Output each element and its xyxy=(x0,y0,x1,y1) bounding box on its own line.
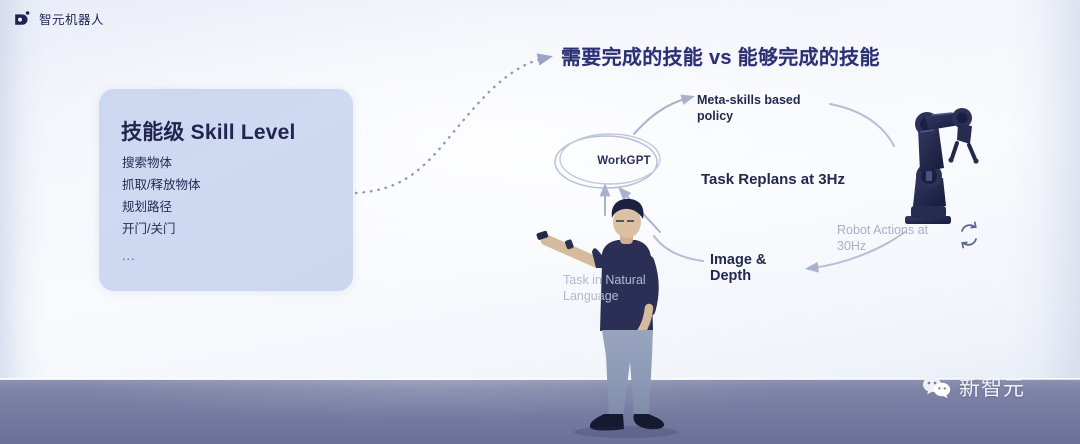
wechat-icon xyxy=(922,375,952,399)
agibot-logo-icon xyxy=(13,9,32,28)
list-item: 开门/关门 xyxy=(122,218,200,240)
list-item: 抓取/释放物体 xyxy=(122,174,200,196)
label-task-replans: Task Replans at 3Hz xyxy=(701,172,845,188)
skill-card-title: 技能级 Skill Level xyxy=(121,116,296,146)
skill-card-ellipsis: ... xyxy=(122,249,135,263)
stage-floor-edge xyxy=(0,378,1080,380)
label-meta-skills-policy: Meta-skills based policy xyxy=(697,92,801,124)
label-task-natural-language: Task in Natural Language xyxy=(563,272,646,304)
stage-floor xyxy=(0,379,1080,444)
skill-level-card: 技能级 Skill Level 搜索物体 抓取/释放物体 规划路径 开门/关门 … xyxy=(99,89,353,291)
presentation-screenshot: 智元机器人 技能级 Skill Level 搜索物体 抓取/释放物体 规划路径 … xyxy=(0,0,1080,444)
label-image-depth: Image & Depth xyxy=(710,252,766,284)
brand-name: 智元机器人 xyxy=(39,9,104,28)
skill-card-list: 搜索物体 抓取/释放物体 规划路径 开门/关门 xyxy=(122,152,200,240)
list-item: 搜索物体 xyxy=(122,152,200,174)
watermark: 新智元 xyxy=(922,372,1025,402)
brand-logo: 智元机器人 xyxy=(13,9,104,28)
watermark-text: 新智元 xyxy=(959,372,1025,402)
workgpt-node-label: WorkGPT xyxy=(578,155,670,167)
list-item: 规划路径 xyxy=(122,196,200,218)
page-title: 需要完成的技能 vs 能够完成的技能 xyxy=(561,41,880,70)
label-robot-actions: Robot Actions at 30Hz xyxy=(837,222,928,254)
